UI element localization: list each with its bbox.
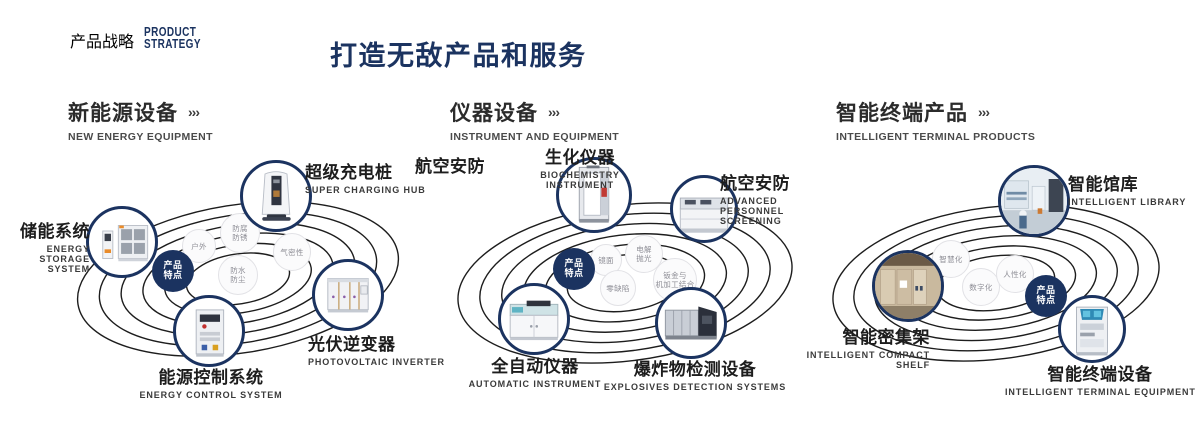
section-title-intelligent-terminal: 智能终端产品 ››› INTELLIGENT TERMINAL PRODUCTS xyxy=(836,97,1035,143)
label-energy-storage-system: 储能系统 ENERGY STORAGE SYSTEM xyxy=(0,217,90,274)
cluster-intelligent-terminal-products: 智慧化 数字化 人性化 产品 特点 智能馆库 INTELLIGE xyxy=(810,155,1200,395)
node-energy-storage-system[interactable] xyxy=(86,206,158,278)
node-label-en: ADVANCED PERSONNEL SCREENING xyxy=(720,196,816,226)
feature-bubble: 零缺陷 xyxy=(600,270,636,306)
cluster-instrument-and-equipment: 镜面 电解 抛光 钣金与 机加工结合 零缺陷 产品 特点 生化仪器 BIOCHE… xyxy=(425,155,825,395)
feature-label: 防水 防尘 xyxy=(230,266,246,284)
poster-canvas: 产品战略 PRODUCT STRATEGY 打造无敌产品和服务 新能源设备 ››… xyxy=(0,0,1200,422)
compact-shelf-icon xyxy=(875,253,941,319)
feature-bubble: 数字化 xyxy=(962,268,1000,306)
label-super-charging-hub: 超级充电桩 SUPER CHARGING HUB xyxy=(305,158,426,195)
section-title-en: NEW ENERGY EQUIPMENT xyxy=(68,131,213,143)
feature-label: 电解 抛光 xyxy=(636,245,652,263)
node-super-charging-hub[interactable] xyxy=(240,160,312,232)
node-intelligent-library[interactable] xyxy=(998,165,1070,237)
feature-label: 数字化 xyxy=(969,283,992,292)
node-label-cn: 航空安防 xyxy=(415,152,485,177)
label-aviation-security: 航空安防 xyxy=(415,152,485,177)
feature-bubble: 气密性 xyxy=(273,233,311,271)
node-label-cn: 航空安防 xyxy=(720,169,816,194)
library-room-icon xyxy=(1001,168,1067,234)
node-explosives-detection-systems[interactable] xyxy=(655,287,727,359)
automatic-analyzer-icon xyxy=(501,286,567,352)
feature-label: 人性化 xyxy=(1003,270,1026,279)
page-title-en: PRODUCT STRATEGY xyxy=(144,26,201,50)
core-label-line2: 特点 xyxy=(1036,296,1055,307)
node-label-en: AUTOMATIC INSTRUMENT xyxy=(440,379,630,389)
chevron-right-icon: ››› xyxy=(548,104,559,120)
kiosk-terminal-icon xyxy=(1061,298,1123,360)
label-automatic-instrument: 全自动仪器 AUTOMATIC INSTRUMENT xyxy=(440,352,630,389)
section-title-cn: 新能源设备 xyxy=(68,97,178,127)
core-label-line1: 产品 xyxy=(1036,286,1055,297)
node-label-cn: 智能终端设备 xyxy=(1005,360,1195,385)
node-intelligent-compact-shelf[interactable] xyxy=(872,250,944,322)
section-title-en: INSTRUMENT AND EQUIPMENT xyxy=(450,131,619,143)
label-intelligent-library: 智能馆库 INTELLIGENT LIBRARY xyxy=(1068,170,1186,207)
chevron-right-icon: ››› xyxy=(188,104,199,120)
label-energy-control-system: 能源控制系统 ENERGY CONTROL SYSTEM xyxy=(86,363,336,400)
section-title-new-energy: 新能源设备 ››› NEW ENERGY EQUIPMENT xyxy=(68,97,213,143)
node-label-en: ENERGY CONTROL SYSTEM xyxy=(86,390,336,400)
node-photovoltaic-inverter[interactable] xyxy=(312,259,384,331)
node-label-cn: 生化仪器 xyxy=(500,143,660,168)
feature-label: 智慧化 xyxy=(939,255,962,264)
energy-storage-cabinet-icon xyxy=(89,209,155,275)
core-label-line1: 产品 xyxy=(163,261,182,272)
node-label-en: ENERGY STORAGE SYSTEM xyxy=(0,244,90,274)
inverter-cabinet-icon xyxy=(315,262,381,328)
core-label-line1: 产品 xyxy=(564,259,583,270)
charging-pile-icon xyxy=(243,163,309,229)
node-label-cn: 能源控制系统 xyxy=(86,363,336,388)
node-label-cn: 智能馆库 xyxy=(1068,170,1186,195)
page-title: 产品战略 PRODUCT STRATEGY xyxy=(70,26,215,52)
detection-machine-icon xyxy=(658,290,724,356)
page-title-cn: 产品战略 xyxy=(70,28,134,52)
section-title-cn: 仪器设备 xyxy=(450,97,538,127)
core-label-line2: 特点 xyxy=(163,271,182,282)
section-title-instrument: 仪器设备 ››› INSTRUMENT AND EQUIPMENT xyxy=(450,97,619,143)
feature-label: 气密性 xyxy=(280,248,303,257)
core-badge: 产品 特点 xyxy=(553,248,595,290)
node-label-en: SUPER CHARGING HUB xyxy=(305,185,426,195)
feature-bubble: 防水 防尘 xyxy=(218,255,258,295)
page-title-en-line2: STRATEGY xyxy=(144,38,201,50)
feature-label: 户外 xyxy=(191,242,207,251)
label-intelligent-compact-shelf: 智能密集架 INTELLIGENT COMPACT SHELF xyxy=(770,323,930,370)
section-title-cn: 智能终端产品 xyxy=(836,97,968,127)
chevron-right-icon: ››› xyxy=(978,104,989,120)
node-label-cn: 储能系统 xyxy=(0,217,90,242)
node-label-en: INTELLIGENT LIBRARY xyxy=(1068,197,1186,207)
node-label-en: BIOCHEMISTRY INSTRUMENT xyxy=(525,170,635,190)
node-label-cn: 智能密集架 xyxy=(770,323,930,348)
section-title-en: INTELLIGENT TERMINAL PRODUCTS xyxy=(836,131,1035,143)
page-subtitle: 打造无敌产品和服务 xyxy=(330,34,587,73)
node-label-en: INTELLIGENT TERMINAL EQUIPMENT xyxy=(1005,387,1195,397)
node-label-en: INTELLIGENT COMPACT SHELF xyxy=(770,350,930,370)
label-intelligent-terminal-equipment: 智能终端设备 INTELLIGENT TERMINAL EQUIPMENT xyxy=(1005,360,1195,397)
feature-label: 镜面 xyxy=(598,256,614,265)
cluster-new-energy-equipment: 户外 防腐 防锈 气密性 防水 防尘 产品 特点 储能系统 xyxy=(40,155,440,395)
label-advanced-personnel-screening: 航空安防 ADVANCED PERSONNEL SCREENING xyxy=(720,169,816,226)
label-biochemistry-instrument: 生化仪器 BIOCHEMISTRY INSTRUMENT xyxy=(500,143,660,190)
node-intelligent-terminal-equipment[interactable] xyxy=(1058,295,1126,363)
node-energy-control-system[interactable] xyxy=(173,295,245,367)
core-label-line2: 特点 xyxy=(564,269,583,280)
control-cabinet-icon xyxy=(176,298,242,364)
node-label-cn: 全自动仪器 xyxy=(440,352,630,377)
node-automatic-instrument[interactable] xyxy=(498,283,570,355)
node-label-cn: 超级充电桩 xyxy=(305,158,426,183)
feature-label: 零缺陷 xyxy=(606,284,629,293)
core-badge: 产品 特点 xyxy=(152,250,194,292)
